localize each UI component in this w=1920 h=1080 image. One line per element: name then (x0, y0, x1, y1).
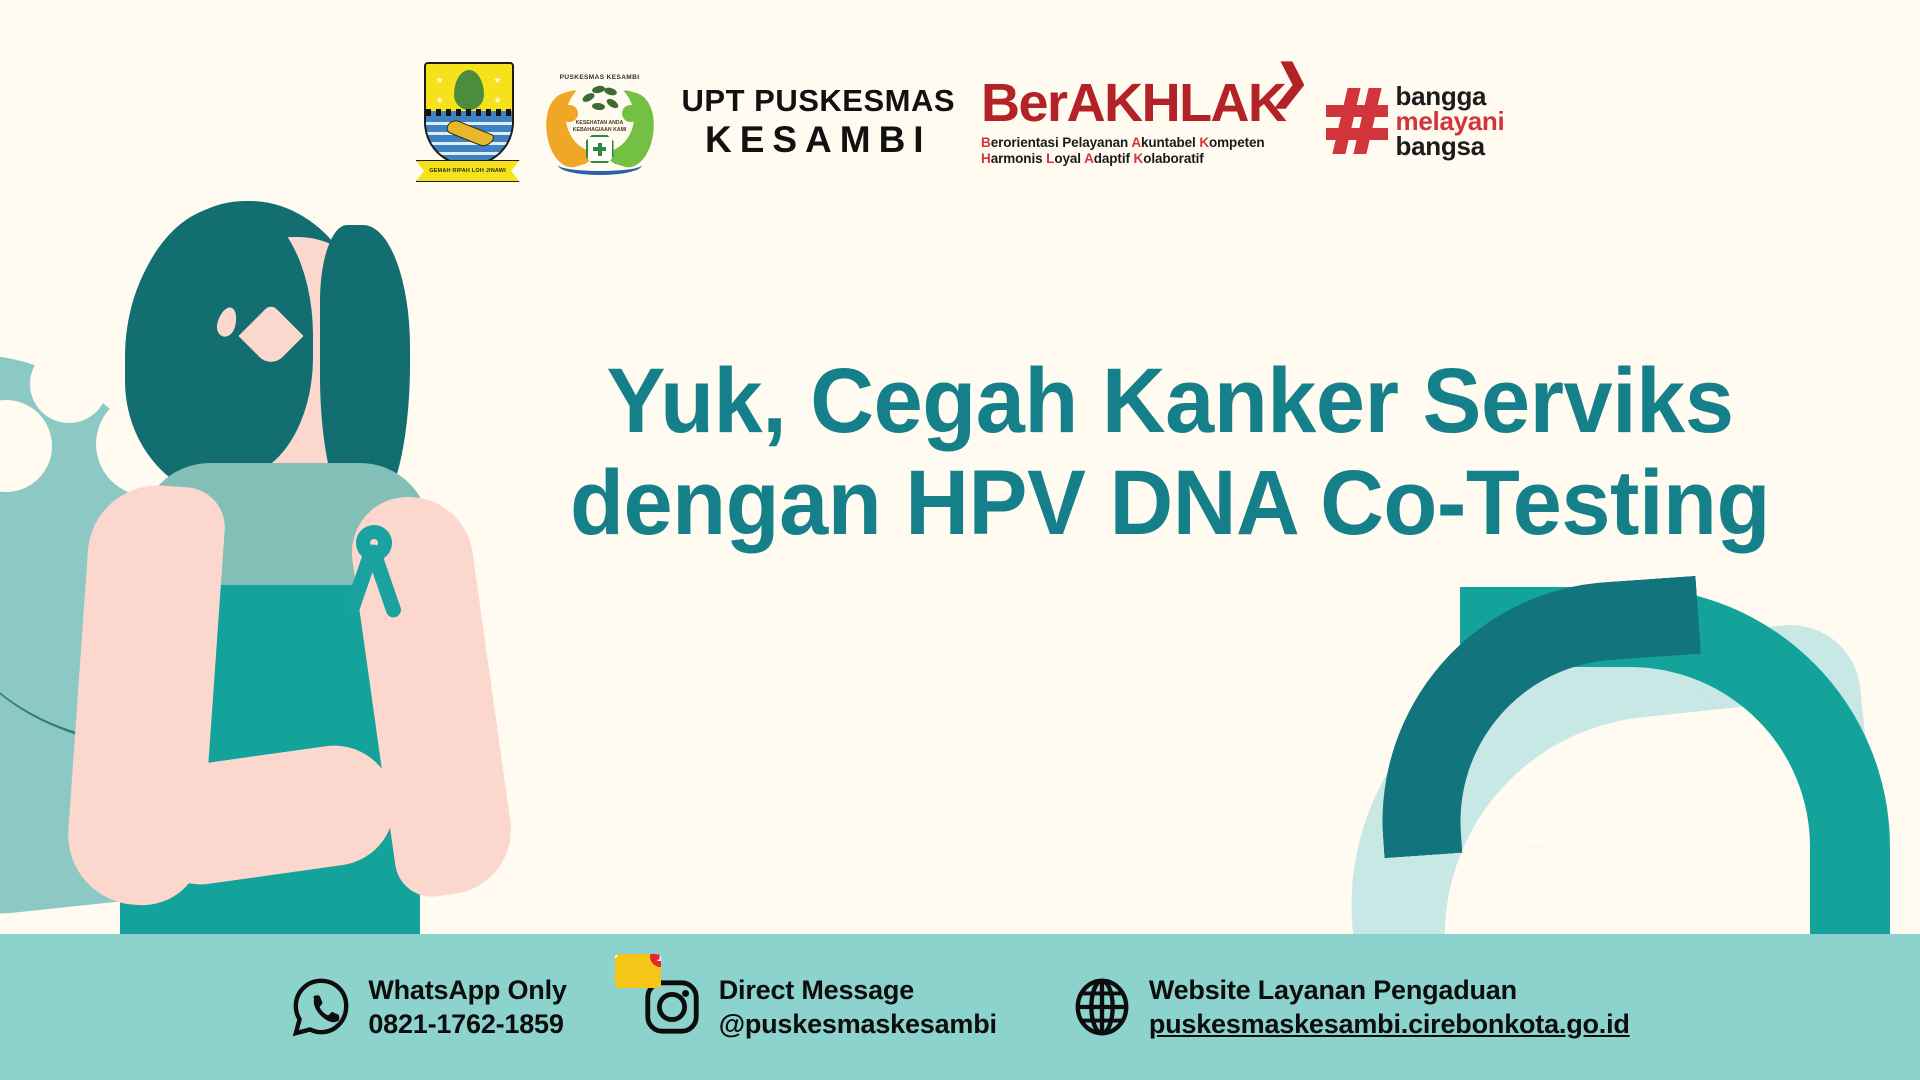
cirebon-city-emblem-icon: ★ ★ ★ ★ GEMAH RIPAH LOH JINAWI (416, 60, 518, 182)
seal-water-icon (558, 155, 642, 175)
headline-line2: dengan HPV DNA Co-Testing (546, 452, 1794, 554)
berakhlak-subtitle-line1: Berorientasi Pelayanan Akuntabel Kompete… (981, 135, 1286, 151)
puskesmas-seal-icon: PUSKESMAS KESAMBI KESEHATAN ANDA KEBAHAG… (544, 65, 656, 177)
bangga-word3: bangsa (1396, 134, 1505, 159)
seal-leaflet (605, 97, 620, 110)
website-url[interactable]: puskesmaskesambi.cirebonkota.go.id (1149, 1007, 1630, 1041)
shield-battlement (426, 109, 512, 116)
bangga-melayani-bangsa-logo: bangga melayani bangsa (1326, 84, 1505, 159)
wordmark-line2: KESAMBI (682, 121, 955, 158)
shield-star-icon: ★ (436, 76, 444, 85)
seal-leaflet (603, 86, 617, 96)
seal-motto: KESEHATAN ANDA KEBAHAGIAAN KAMI (544, 120, 656, 134)
berakhlak-logo: BerAKHLAK ❯ Berorientasi Pelayanan Akunt… (981, 76, 1300, 167)
contact-footer-bar: WhatsApp Only 0821-1762-1859 1 Direct Me… (0, 934, 1920, 1080)
whatsapp-number: 0821-1762-1859 (368, 1007, 566, 1041)
poster-canvas: ★ ★ ★ ★ GEMAH RIPAH LOH JINAWI (0, 0, 1920, 1080)
woman-illustration (20, 195, 580, 935)
contact-website[interactable]: Website Layanan Pengaduan puskesmaskesam… (1071, 973, 1630, 1041)
hashtag-icon (1326, 88, 1388, 154)
chevron-right-icon: ❯ (1268, 58, 1308, 104)
ribbon-dark-band (1366, 576, 1713, 858)
seal-leaflet (591, 102, 605, 110)
headline-line1: Yuk, Cegah Kanker Serviks (546, 350, 1794, 452)
shield-shape: ★ ★ ★ ★ (424, 62, 514, 166)
globe-icon (1071, 976, 1133, 1038)
shield-star-icon: ★ (493, 96, 501, 105)
emblem-motto-ribbon: GEMAH RIPAH LOH JINAWI (416, 160, 520, 182)
wordmark-line1: UPT PUSKESMAS (682, 85, 955, 116)
instagram-handle: @puskesmaskesambi (719, 1007, 997, 1041)
website-text: Website Layanan Pengaduan puskesmaskesam… (1149, 973, 1630, 1041)
shield-wave (426, 142, 512, 145)
contact-instagram[interactable]: 1 Direct Message @puskesmaskesambi (641, 973, 997, 1041)
envelope-notification-icon: 1 (615, 954, 661, 988)
logo-bar: ★ ★ ★ ★ GEMAH RIPAH LOH JINAWI (0, 58, 1920, 184)
website-label: Website Layanan Pengaduan (1149, 973, 1630, 1007)
teal-awareness-ribbon-icon (338, 525, 408, 635)
bangga-word2: melayani (1396, 109, 1505, 134)
seal-plant-icon (580, 84, 620, 114)
large-awareness-ribbon-graphic (1320, 575, 1920, 955)
whatsapp-icon (290, 976, 352, 1038)
shield-star-icon: ★ (493, 76, 501, 85)
contact-whatsapp[interactable]: WhatsApp Only 0821-1762-1859 (290, 973, 566, 1041)
berakhlak-subtitle-line2: Harmonis Loyal Adaptif Kolaboratif (981, 151, 1286, 167)
bangga-text: bangga melayani bangsa (1396, 84, 1505, 159)
instagram-text: Direct Message @puskesmaskesambi (719, 973, 997, 1041)
seal-motto-line1: KESEHATAN ANDA (544, 120, 656, 127)
seal-leaflet (581, 91, 596, 103)
seal-leaflet (591, 85, 605, 95)
seal-motto-line2: KEBAHAGIAAN KAMI (544, 127, 656, 134)
shield-wave (426, 152, 512, 155)
instagram-icon: 1 (641, 976, 703, 1038)
whatsapp-label: WhatsApp Only (368, 973, 566, 1007)
notification-count: 1 (650, 954, 661, 967)
instagram-label: Direct Message (719, 973, 997, 1007)
shield-star-icon: ★ (436, 96, 444, 105)
whatsapp-text: WhatsApp Only 0821-1762-1859 (368, 973, 566, 1041)
berakhlak-title: BerAKHLAK (981, 76, 1286, 130)
page-title: Yuk, Cegah Kanker Serviks dengan HPV DNA… (546, 350, 1794, 554)
seal-arc-text: PUSKESMAS KESAMBI (544, 74, 656, 81)
puskesmas-wordmark: UPT PUSKESMAS KESAMBI (682, 85, 955, 158)
emblem-motto-text: GEMAH RIPAH LOH JINAWI (429, 168, 506, 174)
bangga-word1: bangga (1396, 84, 1505, 109)
